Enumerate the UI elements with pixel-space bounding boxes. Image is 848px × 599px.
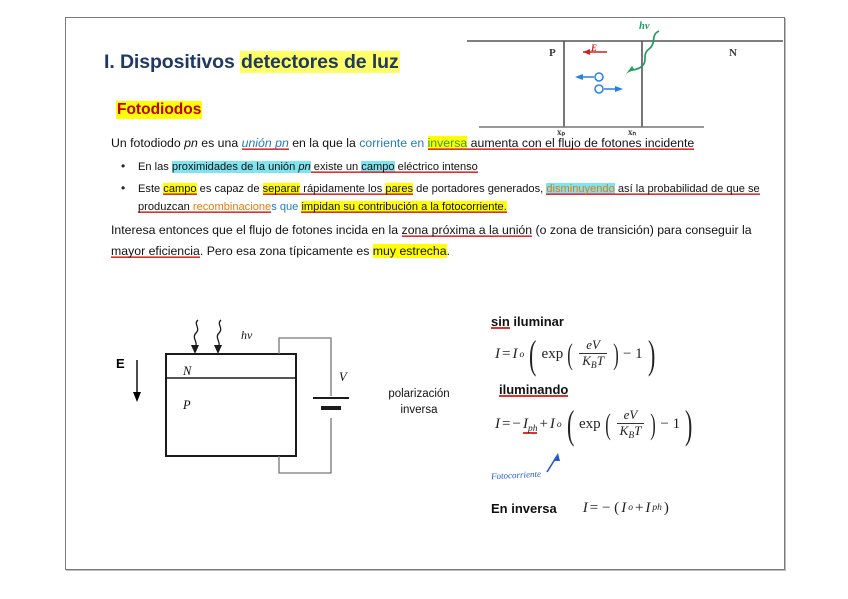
eq-dark-Io: I bbox=[512, 346, 517, 363]
paren-open-outer-2: ( bbox=[567, 409, 574, 441]
c-campo: campo bbox=[163, 183, 196, 195]
eq-dark-exp: exp bbox=[542, 346, 564, 363]
c-impidan: impidan su contribución a la fotocorrien… bbox=[301, 201, 506, 213]
c-s1: Este bbox=[138, 183, 163, 195]
p1-union-pn: unión pn bbox=[242, 136, 289, 150]
paragraph-definition: Un fotodiodo pn es una unión pn en la qu… bbox=[111, 133, 761, 154]
heading-illuminated-text: iluminando bbox=[499, 382, 568, 397]
eq-dark-equals: = bbox=[502, 346, 510, 363]
p2-muy-estrecha: muy estrecha bbox=[373, 244, 447, 258]
heading-dark-current: sin iluminar bbox=[491, 314, 564, 329]
p2-s7: . bbox=[447, 244, 450, 258]
eq-dark-minus-one: − 1 bbox=[623, 346, 643, 363]
p1-corriente-en: corriente en bbox=[359, 136, 427, 150]
eq-rev-equals: = − ( bbox=[590, 500, 619, 517]
photodiode-device-diagram: E N P hν V polarizacióninversa bbox=[111, 308, 471, 518]
list-item: Este campo es capaz de separar rápidamen… bbox=[111, 180, 761, 216]
paren-close-inner: ) bbox=[613, 343, 619, 367]
device-layer-p-label: P bbox=[183, 398, 191, 413]
heading-reverse: En inversa bbox=[491, 501, 557, 516]
junction-label-n: N bbox=[729, 47, 737, 59]
c-s11: s que bbox=[271, 201, 301, 213]
photocurrent-pointer-arrow bbox=[543, 452, 573, 474]
bullet-list: En las proximidades de la unión pn exist… bbox=[111, 158, 761, 216]
eq-rev-Iph: I bbox=[645, 500, 650, 517]
b-s1: En las bbox=[138, 161, 172, 173]
equation-reverse: I = − ( Io + Iph ) bbox=[583, 500, 669, 517]
eq-dark-Io-sub: o bbox=[519, 350, 524, 360]
c-s7: de portadores generados, bbox=[413, 183, 546, 195]
eq-rev-close: ) bbox=[664, 500, 669, 517]
heading-dark-sin: sin bbox=[491, 314, 510, 329]
p1-s1: Un fotodiodo bbox=[111, 136, 184, 150]
eq-dark-I: I bbox=[495, 346, 500, 363]
c-s3: es capaz de bbox=[197, 183, 263, 195]
paren-close-outer: ) bbox=[648, 339, 655, 371]
slide-frame: I. Dispositivos detectores de luz Fotodi… bbox=[65, 17, 785, 570]
eq-lit-equals: = bbox=[502, 416, 510, 433]
eq-lit-exp: exp bbox=[579, 416, 601, 433]
eq-lit-plus: + bbox=[539, 416, 547, 433]
bias-caption-line2: inversa bbox=[400, 404, 437, 416]
frac-denominator: KBT bbox=[579, 353, 607, 372]
b-electrico-intenso: eléctrico intenso bbox=[395, 161, 478, 173]
b-proximidades: proximidades de la unión bbox=[172, 161, 298, 173]
frac-den-T: T bbox=[597, 353, 604, 368]
p2-zona-proxima: zona próxima a la unión bbox=[402, 223, 533, 237]
list-item: En las proximidades de la unión pn exist… bbox=[111, 158, 761, 176]
frac2-denominator: KBT bbox=[617, 423, 645, 442]
b-existe: existe un bbox=[311, 161, 362, 173]
paren-close-outer-2: ) bbox=[685, 409, 692, 441]
photocurrent-annotation: Fotocorriente bbox=[491, 469, 541, 482]
junction-label-p: P bbox=[549, 47, 556, 59]
frac2-den-T: T bbox=[634, 423, 641, 438]
eq-lit-Io-sub: o bbox=[557, 420, 562, 430]
body-text: Un fotodiodo pn es una unión pn en la qu… bbox=[111, 133, 761, 265]
eq-lit-I: I bbox=[495, 416, 500, 433]
eq-lit-Iph: Iph bbox=[523, 416, 538, 434]
eq-rev-Io: I bbox=[621, 500, 626, 517]
p2-mayor-eficiencia: mayor eficiencia bbox=[111, 244, 200, 258]
paren-open-outer: ( bbox=[529, 339, 536, 371]
paren-close-inner-2: ) bbox=[651, 413, 657, 437]
c-disminuyendo: disminuyendo bbox=[546, 183, 614, 195]
eq-rev-I: I bbox=[583, 500, 588, 517]
page-title-highlight: detectores de luz bbox=[240, 51, 400, 73]
device-field-label: E bbox=[116, 356, 125, 371]
frac-den-K: K bbox=[582, 353, 591, 368]
frac2-numerator: eV bbox=[621, 408, 641, 423]
p1-inversa: inversa bbox=[428, 136, 468, 150]
eq-lit-Iph-sub: ph bbox=[528, 424, 538, 434]
eq-lit-minus-one: − 1 bbox=[660, 416, 680, 433]
equations-block: sin iluminar I = Io ( exp ( eV KBT ) − 1… bbox=[491, 313, 781, 517]
p1-s8: aumenta con el flujo de fotones incident… bbox=[467, 136, 694, 150]
c-pares: pares bbox=[385, 183, 413, 195]
paren-open-inner: ( bbox=[567, 343, 573, 367]
b-pn: pn bbox=[298, 161, 310, 173]
eq-lit-Io: I bbox=[550, 416, 555, 433]
eq-rev-Iph-sub: ph bbox=[652, 503, 662, 513]
photon-energy-label: hν bbox=[639, 21, 650, 32]
equation-illuminated: I = − Iph + Io ( exp ( eV KBT ) − 1 ) bbox=[495, 408, 781, 442]
heading-dark-rest: iluminar bbox=[510, 314, 564, 329]
p2-s5: . Pero esa zona típicamente es bbox=[200, 244, 373, 258]
equation-dark: I = Io ( exp ( eV KBT ) − 1 ) bbox=[495, 338, 781, 372]
c-separar: separar bbox=[263, 183, 301, 195]
p1-s2: pn bbox=[184, 136, 198, 150]
b-campo: campo bbox=[361, 161, 394, 173]
eq-rev-Io-sub: o bbox=[628, 503, 633, 513]
bias-caption-line1: polarización bbox=[388, 388, 449, 400]
bias-caption: polarizacióninversa bbox=[369, 386, 469, 418]
heading-illuminated: iluminando bbox=[499, 382, 568, 397]
junction-diagram-svg bbox=[461, 19, 786, 144]
junction-band-diagram: P N xₚ xₙ hν E bbox=[461, 19, 786, 144]
page-title-prefix: I. Dispositivos bbox=[104, 51, 240, 73]
eq-lit-minus: − bbox=[512, 416, 520, 433]
fraction-eV-KBT: eV KBT bbox=[579, 338, 607, 372]
device-layer-n-label: N bbox=[183, 364, 191, 379]
electric-field-label: E bbox=[591, 43, 597, 53]
page-title: I. Dispositivos detectores de luz bbox=[104, 51, 400, 74]
device-voltage-label: V bbox=[339, 370, 347, 385]
paren-open-inner-2: ( bbox=[605, 413, 611, 437]
reverse-bias-row: En inversa I = − ( Io + Iph ) bbox=[491, 500, 781, 517]
p2-s1: Interesa entonces que el flujo de fotone… bbox=[111, 223, 402, 237]
p2-s3: (o zona de transición) para conseguir la bbox=[532, 223, 751, 237]
frac-numerator: eV bbox=[583, 338, 603, 353]
fraction-eV-KBT-2: eV KBT bbox=[617, 408, 645, 442]
section-subtitle: Fotodiodos bbox=[116, 101, 202, 119]
p1-s5: en la que la bbox=[289, 136, 359, 150]
eq-rev-plus: + bbox=[635, 500, 643, 517]
c-recombinaciones: recombinacione bbox=[193, 201, 271, 213]
paragraph-efficiency: Interesa entonces que el flujo de fotone… bbox=[111, 220, 761, 262]
device-photon-label: hν bbox=[241, 328, 252, 343]
c-s5: rápidamente los bbox=[300, 183, 385, 195]
p1-s3: es una bbox=[198, 136, 242, 150]
